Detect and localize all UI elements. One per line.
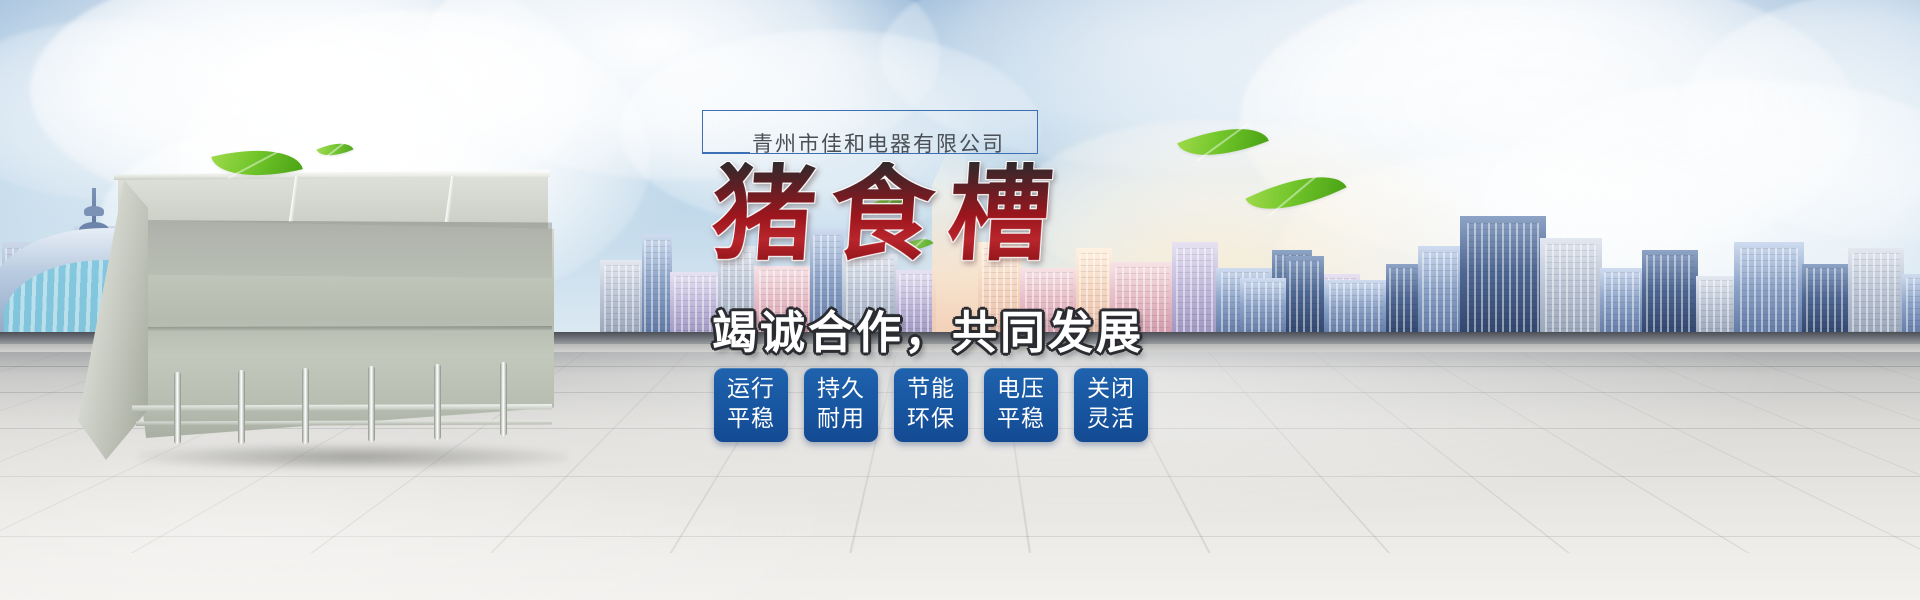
cloud <box>100 120 520 320</box>
feature-badge-line1: 电压 <box>997 375 1045 405</box>
feature-badge-3[interactable]: 电压 平稳 <box>984 368 1058 442</box>
feature-badge-line1: 持久 <box>817 375 865 405</box>
page-title: 猪食槽 <box>708 162 1069 266</box>
feature-badge-1[interactable]: 持久 耐用 <box>804 368 878 442</box>
subtitle: 竭诚合作，共同发展 <box>712 296 1144 361</box>
feature-badge-line1: 关闭 <box>1087 375 1135 405</box>
feature-badge-line2: 环保 <box>907 405 955 435</box>
cloud <box>1680 0 1920 240</box>
feature-badge-2[interactable]: 节能 环保 <box>894 368 968 442</box>
feature-badge-line2: 耐用 <box>817 405 865 435</box>
feature-badge-0[interactable]: 运行 平稳 <box>714 368 788 442</box>
feature-badge-line2: 灵活 <box>1087 405 1135 435</box>
feature-badge-line2: 平稳 <box>727 405 775 435</box>
promo-banner: 青州市佳和电器有限公司 猪食槽 竭诚合作，共同发展 运行 平稳 持久 耐用 节能… <box>0 0 1920 600</box>
cloud <box>1480 80 1920 340</box>
feature-badge-line1: 节能 <box>907 375 955 405</box>
feature-badge-list: 运行 平稳 持久 耐用 节能 环保 电压 平稳 关闭 灵活 <box>714 368 1148 442</box>
cloud <box>1280 150 1780 340</box>
feature-badge-line2: 平稳 <box>997 405 1045 435</box>
cloud <box>30 0 590 220</box>
cloud <box>1240 0 1860 270</box>
feature-badge-line1: 运行 <box>727 375 775 405</box>
feature-badge-4[interactable]: 关闭 灵活 <box>1074 368 1148 442</box>
